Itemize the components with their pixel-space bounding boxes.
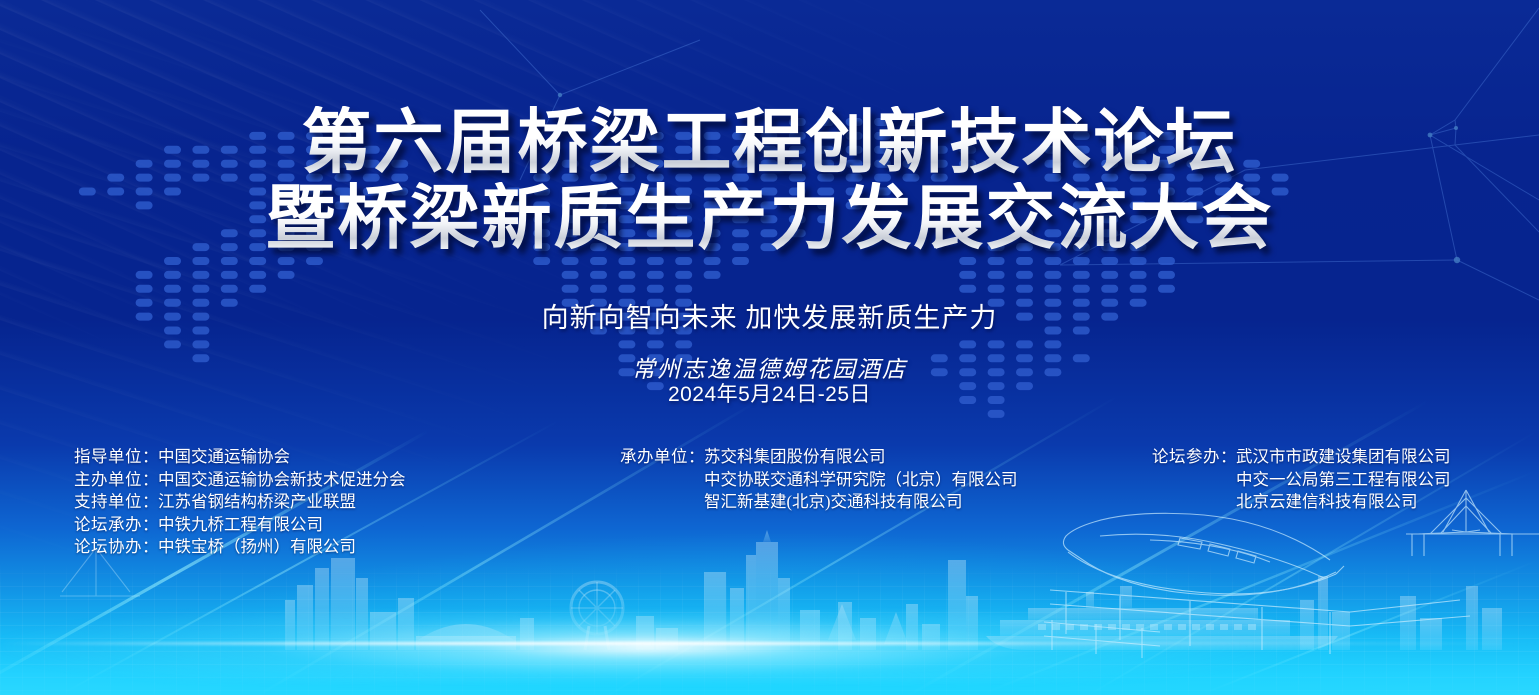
organizer-values: 中国交通运输协会新技术促进分会: [158, 469, 406, 492]
organizer-values: 中国交通运输协会: [158, 446, 290, 469]
organizer-row: 承办单位： 苏交科集团股份有限公司 中交协联交通科学研究院（北京）有限公司 智汇…: [620, 446, 1018, 514]
organizer-value: 中交一公局第三工程有限公司: [1236, 469, 1451, 492]
organizer-column-left: 指导单位： 中国交通运输协会 主办单位： 中国交通运输协会新技术促进分会 支持单…: [74, 446, 406, 559]
organizer-row: 支持单位： 江苏省钢结构桥梁产业联盟: [74, 491, 406, 514]
organizer-value: 中国交通运输协会新技术促进分会: [158, 469, 406, 492]
organizer-row: 论坛承办： 中铁九桥工程有限公司: [74, 514, 406, 537]
conference-banner: 第六届桥梁工程创新技术论坛 暨桥梁新质生产力发展交流大会 向新向智向未来 加快发…: [0, 0, 1539, 695]
organizer-label: 论坛参办：: [1152, 446, 1236, 469]
organizer-column-right: 论坛参办： 武汉市市政建设集团有限公司 中交一公局第三工程有限公司 北京云建信科…: [1152, 446, 1451, 514]
organizer-value: 江苏省钢结构桥梁产业联盟: [158, 491, 356, 514]
organizer-value: 中交协联交通科学研究院（北京）有限公司: [704, 469, 1018, 492]
organizers: 指导单位： 中国交通运输协会 主办单位： 中国交通运输协会新技术促进分会 支持单…: [0, 446, 1539, 576]
organizer-values: 武汉市市政建设集团有限公司 中交一公局第三工程有限公司 北京云建信科技有限公司: [1236, 446, 1451, 514]
organizer-value: 中国交通运输协会: [158, 446, 290, 469]
organizer-values: 中铁九桥工程有限公司: [158, 514, 323, 537]
organizer-label: 支持单位：: [74, 491, 158, 514]
organizer-value: 苏交科集团股份有限公司: [704, 446, 1018, 469]
organizer-label: 承办单位：: [620, 446, 704, 469]
title-block: 第六届桥梁工程创新技术论坛 暨桥梁新质生产力发展交流大会: [0, 106, 1539, 258]
organizer-value: 智汇新基建(北京)交通科技有限公司: [704, 491, 1018, 514]
dates: 2024年5月24日-25日: [0, 378, 1539, 408]
title-line-1: 第六届桥梁工程创新技术论坛: [0, 106, 1539, 182]
title-line-2: 暨桥梁新质生产力发展交流大会: [0, 182, 1539, 258]
organizer-label: 论坛协办：: [74, 536, 158, 559]
organizer-column-middle: 承办单位： 苏交科集团股份有限公司 中交协联交通科学研究院（北京）有限公司 智汇…: [620, 446, 1018, 514]
organizer-value: 武汉市市政建设集团有限公司: [1236, 446, 1451, 469]
organizer-value: 中铁九桥工程有限公司: [158, 514, 323, 537]
organizer-values: 中铁宝桥（扬州）有限公司: [158, 536, 356, 559]
organizer-values: 苏交科集团股份有限公司 中交协联交通科学研究院（北京）有限公司 智汇新基建(北京…: [704, 446, 1018, 514]
organizer-value: 中铁宝桥（扬州）有限公司: [158, 536, 356, 559]
organizer-value: 北京云建信科技有限公司: [1236, 491, 1451, 514]
slogan: 向新向智向未来 加快发展新质生产力: [0, 296, 1539, 335]
organizer-row: 论坛协办： 中铁宝桥（扬州）有限公司: [74, 536, 406, 559]
organizer-row: 主办单位： 中国交通运输协会新技术促进分会: [74, 469, 406, 492]
organizer-row: 指导单位： 中国交通运输协会: [74, 446, 406, 469]
banner-content: 第六届桥梁工程创新技术论坛 暨桥梁新质生产力发展交流大会 向新向智向未来 加快发…: [0, 0, 1539, 695]
organizer-row: 论坛参办： 武汉市市政建设集团有限公司 中交一公局第三工程有限公司 北京云建信科…: [1152, 446, 1451, 514]
organizer-values: 江苏省钢结构桥梁产业联盟: [158, 491, 356, 514]
organizer-label: 论坛承办：: [74, 514, 158, 537]
organizer-label: 指导单位：: [74, 446, 158, 469]
organizer-label: 主办单位：: [74, 469, 158, 492]
